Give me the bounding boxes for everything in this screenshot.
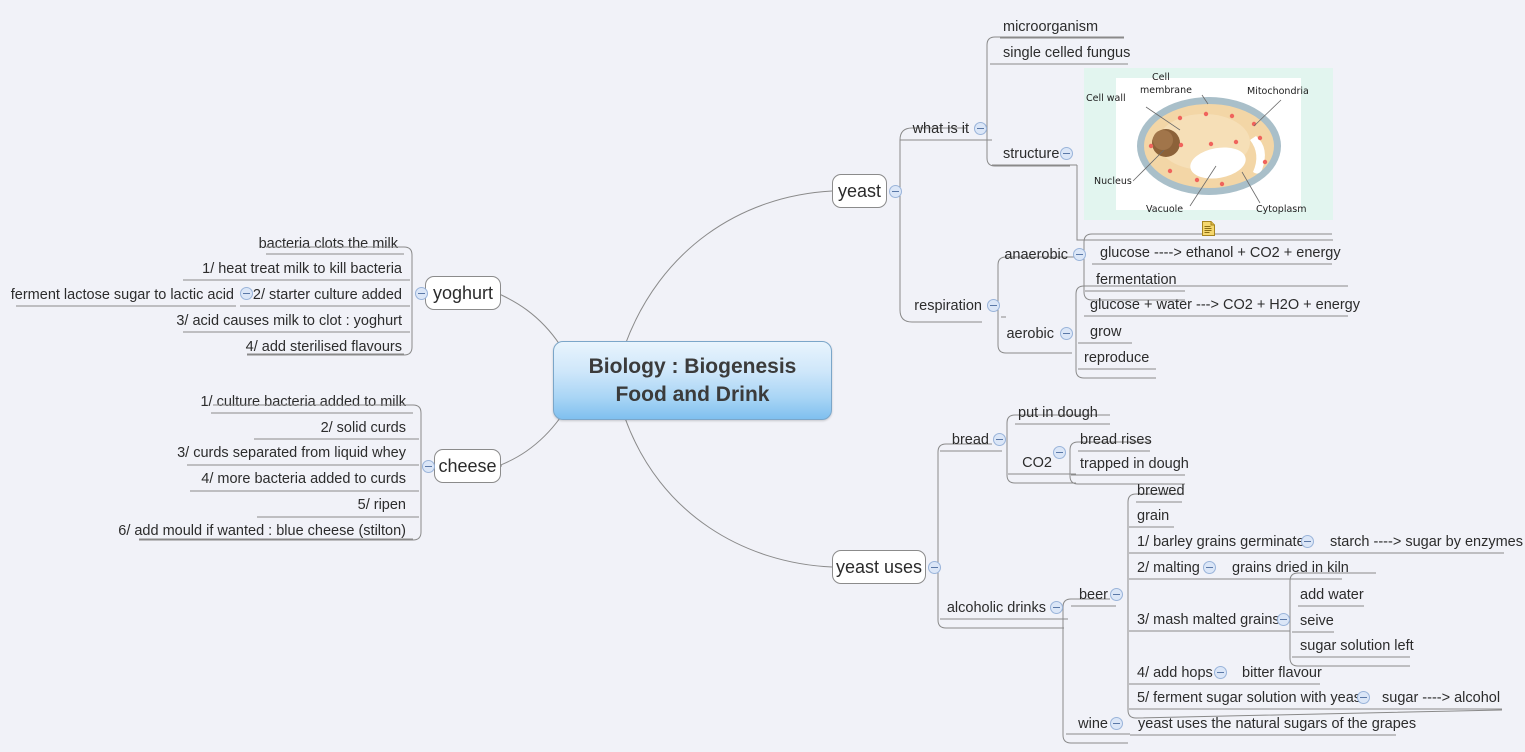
topic-put-in-dough[interactable]: put in dough: [1014, 403, 1110, 424]
topic-yoghurt-step4[interactable]: 4/ add sterilised flavours: [243, 337, 406, 358]
toggle-yoghurt[interactable]: [240, 287, 253, 300]
topic-beer-step4-sub-label: bitter flavour: [1242, 665, 1322, 682]
topic-anaerobic-equation-label: glucose ----> ethanol + CO2 + energy: [1100, 245, 1341, 262]
toggle-beer-step3[interactable]: [1277, 613, 1290, 626]
cell-label-cell: Cell: [1152, 72, 1170, 83]
branch-yeast-label: yeast: [838, 181, 881, 202]
topic-beer-step5-sub-label: sugar ----> alcohol: [1382, 690, 1500, 707]
branch-cheese-label: cheese: [438, 456, 496, 477]
toggle-alcoholic-drinks[interactable]: [1050, 601, 1063, 614]
topic-beer-step2[interactable]: 2/ malting: [1133, 558, 1207, 579]
topic-cheese-step4[interactable]: 4/ more bacteria added to curds: [201, 469, 410, 490]
topic-single-celled-fungus[interactable]: single celled fungus: [999, 43, 1129, 64]
topic-aerobic-equation[interactable]: glucose + water ---> CO2 + H2O + energy: [1086, 295, 1348, 316]
topic-cheese-step1-label: 1/ culture bacteria added to milk: [200, 394, 406, 411]
toggle-yeast[interactable]: [889, 185, 902, 198]
topic-wine-sub-label: yeast uses the natural sugars of the gra…: [1138, 716, 1416, 733]
topic-cheese-step3-label: 3/ curds separated from liquid whey: [177, 445, 406, 462]
topic-beer-step3[interactable]: 3/ mash malted grains: [1133, 610, 1283, 631]
topic-aerobic-label: aerobic: [1006, 326, 1054, 343]
topic-bacteria-clots-the-milk[interactable]: bacteria clots the milk: [262, 234, 402, 255]
topic-what-is-it-label: what is it: [913, 121, 969, 138]
topic-brewed-label: brewed: [1137, 483, 1185, 500]
topic-reproduce-label: reproduce: [1084, 350, 1149, 367]
topic-beer-step2-sub[interactable]: grains dried in kiln: [1228, 558, 1346, 579]
topic-anaerobic-label: anaerobic: [1004, 247, 1068, 264]
topic-co2[interactable]: CO2: [1014, 453, 1056, 474]
toggle-anaerobic[interactable]: [1073, 248, 1086, 261]
topic-yoghurt-step1[interactable]: 1/ heat treat milk to kill bacteria: [205, 259, 406, 280]
topic-anaerobic[interactable]: anaerobic: [1000, 245, 1072, 266]
root-node[interactable]: Biology : Biogenesis Food and Drink: [553, 341, 832, 420]
topic-fermentation[interactable]: fermentation: [1092, 270, 1188, 291]
topic-wine-label: wine: [1078, 716, 1108, 733]
topic-beer-step4-sub[interactable]: bitter flavour: [1238, 663, 1322, 684]
mindmap-canvas: Biology : Biogenesis Food and Drink yeas…: [0, 0, 1525, 752]
topic-cheese-step3[interactable]: 3/ curds separated from liquid whey: [185, 443, 410, 464]
topic-cheese-step6[interactable]: 6/ add mould if wanted : blue cheese (st…: [133, 521, 410, 542]
topic-sugar-solution-left[interactable]: sugar solution left: [1296, 636, 1412, 657]
topic-beer-step4[interactable]: 4/ add hops: [1133, 663, 1211, 684]
toggle-respiration[interactable]: [987, 299, 1000, 312]
topic-cheese-step5[interactable]: 5/ ripen: [340, 495, 410, 516]
toggle-yoghurt-branch[interactable]: [415, 287, 428, 300]
topic-cheese-step2[interactable]: 2/ solid curds: [312, 418, 410, 439]
topic-grow-label: grow: [1090, 324, 1121, 341]
topic-yoghurt-step1-label: 1/ heat treat milk to kill bacteria: [202, 261, 402, 278]
cell-label-nucleus: Nucleus: [1094, 176, 1132, 187]
topic-respiration[interactable]: respiration: [906, 296, 986, 317]
topic-beer-step2-sub-label: grains dried in kiln: [1232, 560, 1349, 577]
topic-beer-step1-sub[interactable]: starch ----> sugar by enzymes: [1326, 532, 1506, 553]
topic-bread-rises[interactable]: bread rises: [1076, 430, 1154, 451]
topic-wine[interactable]: wine: [1070, 714, 1112, 735]
topic-cheese-step4-label: 4/ more bacteria added to curds: [201, 471, 406, 488]
toggle-structure[interactable]: [1060, 147, 1073, 160]
toggle-beer-step1[interactable]: [1301, 535, 1314, 548]
topic-structure[interactable]: structure: [999, 144, 1061, 165]
cell-label-cytoplasm: Cytoplasm: [1256, 204, 1307, 215]
branch-yeast-uses[interactable]: yeast uses: [832, 550, 926, 584]
topic-ferment-lactose-label: ferment lactose sugar to lactic acid: [11, 287, 234, 304]
topic-grow[interactable]: grow: [1086, 322, 1132, 343]
topic-trapped-in-dough-label: trapped in dough: [1080, 456, 1189, 473]
branch-yoghurt-label: yoghurt: [433, 283, 493, 304]
topic-beer-step1[interactable]: 1/ barley grains germinate: [1133, 532, 1295, 553]
topic-yoghurt-step2[interactable]: 2/ starter culture added: [255, 285, 406, 306]
topic-beer-step5[interactable]: 5/ ferment sugar solution with yeast: [1133, 688, 1351, 709]
cell-label-mitochondria: Mitochondria: [1247, 86, 1309, 97]
toggle-aerobic[interactable]: [1060, 327, 1073, 340]
topic-yoghurt-step3[interactable]: 3/ acid causes milk to clot : yoghurt: [179, 311, 406, 332]
branch-yeast[interactable]: yeast: [832, 174, 887, 208]
topic-beer-step3-label: 3/ mash malted grains: [1137, 612, 1280, 629]
cell-label-vacuole: Vacuole: [1146, 204, 1183, 215]
topic-structure-label: structure: [1003, 146, 1059, 163]
toggle-beer-step4[interactable]: [1214, 666, 1227, 679]
toggle-bread[interactable]: [993, 433, 1006, 446]
cell-label-cell-wall: Cell wall: [1086, 93, 1126, 104]
topic-aerobic[interactable]: aerobic: [1000, 324, 1058, 345]
topic-alcoholic-drinks[interactable]: alcoholic drinks: [944, 598, 1050, 619]
topic-microorganism-label: microorganism: [1003, 19, 1098, 36]
root-title-line2: Food and Drink: [589, 381, 797, 409]
toggle-wine[interactable]: [1110, 717, 1123, 730]
branch-cheese[interactable]: cheese: [434, 449, 501, 483]
toggle-yeast-uses[interactable]: [928, 561, 941, 574]
topic-beer-step4-label: 4/ add hops: [1137, 665, 1213, 682]
topic-yoghurt-step2-label: 2/ starter culture added: [253, 287, 402, 304]
topic-seive[interactable]: seive: [1296, 611, 1338, 632]
topic-ferment-lactose[interactable]: ferment lactose sugar to lactic acid: [18, 285, 238, 306]
root-title-line1: Biology : Biogenesis: [589, 353, 797, 381]
topic-bread-label: bread: [952, 432, 989, 449]
toggle-what-is-it[interactable]: [974, 122, 987, 135]
topic-beer[interactable]: beer: [1070, 585, 1112, 606]
topic-brewed[interactable]: brewed: [1133, 481, 1189, 502]
topic-fermentation-label: fermentation: [1096, 272, 1177, 289]
topic-add-water-label: add water: [1300, 587, 1364, 604]
branch-yoghurt[interactable]: yoghurt: [425, 276, 501, 310]
topic-cheese-step1[interactable]: 1/ culture bacteria added to milk: [207, 392, 410, 413]
note-icon[interactable]: [1202, 221, 1215, 236]
topic-sugar-solution-left-label: sugar solution left: [1300, 638, 1414, 655]
topic-co2-label: CO2: [1022, 455, 1052, 472]
topic-cheese-step5-label: 5/ ripen: [358, 497, 406, 514]
cell-label-membrane: membrane: [1140, 85, 1192, 96]
topic-yoghurt-step4-label: 4/ add sterilised flavours: [246, 339, 402, 356]
branch-yeast-uses-label: yeast uses: [836, 557, 922, 578]
topic-bread[interactable]: bread: [945, 430, 993, 451]
topic-microorganism[interactable]: microorganism: [999, 17, 1125, 38]
topic-yoghurt-step3-label: 3/ acid causes milk to clot : yoghurt: [176, 313, 402, 330]
topic-grain[interactable]: grain: [1133, 506, 1177, 527]
topic-beer-step5-sub[interactable]: sugar ----> alcohol: [1378, 688, 1502, 709]
topic-beer-label: beer: [1079, 587, 1108, 604]
topic-put-in-dough-label: put in dough: [1018, 405, 1098, 422]
topic-bacteria-clots-label: bacteria clots the milk: [259, 236, 398, 253]
topic-aerobic-equation-label: glucose + water ---> CO2 + H2O + energy: [1090, 297, 1360, 314]
toggle-co2[interactable]: [1053, 446, 1066, 459]
topic-cheese-step6-label: 6/ add mould if wanted : blue cheese (st…: [118, 523, 406, 540]
topic-anaerobic-equation[interactable]: glucose ----> ethanol + CO2 + energy: [1096, 243, 1332, 264]
topic-beer-step1-label: 1/ barley grains germinate: [1137, 534, 1305, 551]
toggle-beer-step5[interactable]: [1357, 691, 1370, 704]
toggle-beer[interactable]: [1110, 588, 1123, 601]
topic-cheese-step2-label: 2/ solid curds: [321, 420, 406, 437]
topic-wine-sub[interactable]: yeast uses the natural sugars of the gra…: [1134, 714, 1396, 735]
topic-beer-step1-sub-label: starch ----> sugar by enzymes: [1330, 534, 1523, 551]
topic-beer-step5-label: 5/ ferment sugar solution with yeast: [1137, 690, 1365, 707]
topic-single-celled-fungus-label: single celled fungus: [1003, 45, 1130, 62]
toggle-cheese-branch[interactable]: [422, 460, 435, 473]
topic-add-water[interactable]: add water: [1296, 585, 1366, 606]
yeast-cell-diagram: Cell wall Cell membrane Mitochondria Nuc…: [1084, 68, 1333, 220]
topic-grain-label: grain: [1137, 508, 1169, 525]
toggle-beer-step2[interactable]: [1203, 561, 1216, 574]
topic-respiration-label: respiration: [914, 298, 982, 315]
topic-what-is-it[interactable]: what is it: [895, 119, 973, 140]
topic-bread-rises-label: bread rises: [1080, 432, 1152, 449]
topic-seive-label: seive: [1300, 613, 1334, 630]
topic-trapped-in-dough[interactable]: trapped in dough: [1076, 454, 1190, 475]
topic-alcoholic-drinks-label: alcoholic drinks: [947, 600, 1046, 617]
topic-reproduce[interactable]: reproduce: [1080, 348, 1156, 369]
topic-beer-step2-label: 2/ malting: [1137, 560, 1200, 577]
